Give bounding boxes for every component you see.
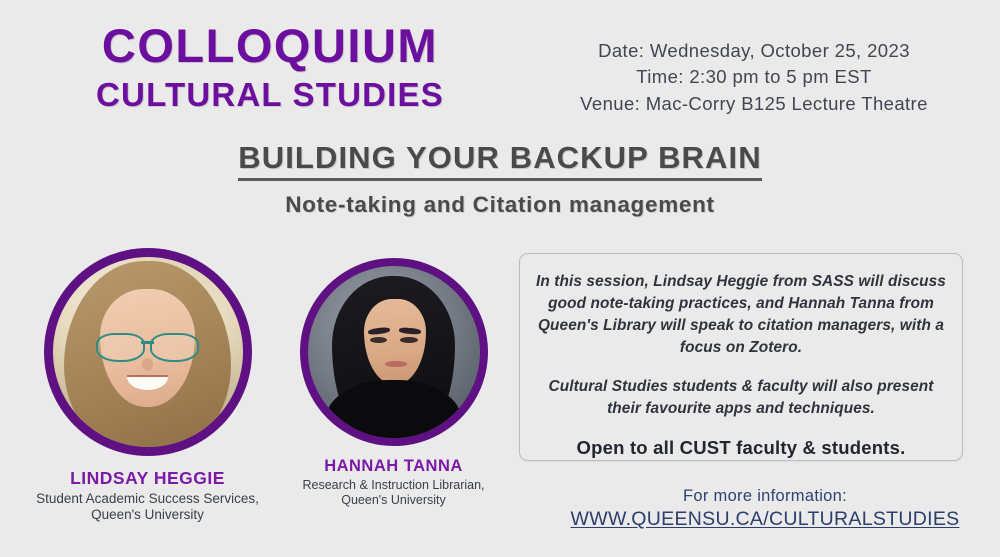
brand-subtitle: CULTURAL STUDIES [60, 78, 480, 111]
portrait-ring [44, 248, 252, 456]
event-subtitle: Note-taking and Citation management [0, 192, 1000, 218]
event-venue: Venue: Mac-Corry B125 Lecture Theatre [534, 91, 974, 117]
headline-block: BUILDING YOUR BACKUP BRAIN Note-taking a… [0, 142, 1000, 218]
speaker-role-line1: Research & Instruction Librarian, [286, 478, 501, 493]
speaker-role-line2: Queen's University [286, 493, 501, 508]
event-date: Date: Wednesday, October 25, 2023 [534, 38, 974, 64]
speaker-role: Student Academic Success Services, Queen… [20, 491, 275, 524]
description-card: In this session, Lindsay Heggie from SAS… [519, 253, 963, 461]
speaker-name: HANNAH TANNA [286, 457, 501, 476]
nose-shape [142, 358, 153, 371]
speaker-role-line2: Queen's University [20, 507, 275, 523]
lens-bridge [141, 341, 153, 344]
eyeglasses-icon [96, 333, 199, 358]
portrait-lindsay-heggie [53, 257, 243, 447]
speaker-role-line1: Student Academic Success Services, [20, 491, 275, 507]
lens-right [150, 333, 199, 362]
speaker-card-lindsay-heggie: LINDSAY HEGGIE Student Academic Success … [20, 248, 275, 524]
description-paragraph-2: Cultural Studies students & faculty will… [536, 376, 946, 420]
event-title: BUILDING YOUR BACKUP BRAIN [238, 142, 761, 181]
speaker-card-hannah-tanna: HANNAH TANNA Research & Instruction Libr… [286, 258, 501, 509]
brand-title: COLLOQUIUM [60, 22, 480, 69]
speaker-name: LINDSAY HEGGIE [20, 468, 275, 489]
lens-left [96, 333, 145, 362]
event-logistics: Date: Wednesday, October 25, 2023 Time: … [534, 38, 974, 117]
portrait-hannah-tanna [308, 266, 480, 438]
description-paragraph-1: In this session, Lindsay Heggie from SAS… [536, 271, 946, 359]
more-information-label: For more information: [540, 487, 990, 506]
open-to-statement: Open to all CUST faculty & students. [536, 437, 946, 459]
brand-block: COLLOQUIUM CULTURAL STUDIES [60, 22, 480, 111]
speaker-role: Research & Instruction Librarian, Queen'… [286, 478, 501, 509]
poster-canvas: COLLOQUIUM CULTURAL STUDIES Date: Wednes… [0, 0, 1000, 557]
event-time: Time: 2:30 pm to 5 pm EST [534, 64, 974, 90]
portrait-ring [300, 258, 488, 446]
footer-block: For more information: WWW.QUEENSU.CA/CUL… [540, 487, 990, 531]
website-link[interactable]: WWW.QUEENSU.CA/CULTURALSTUDIES [571, 508, 960, 531]
